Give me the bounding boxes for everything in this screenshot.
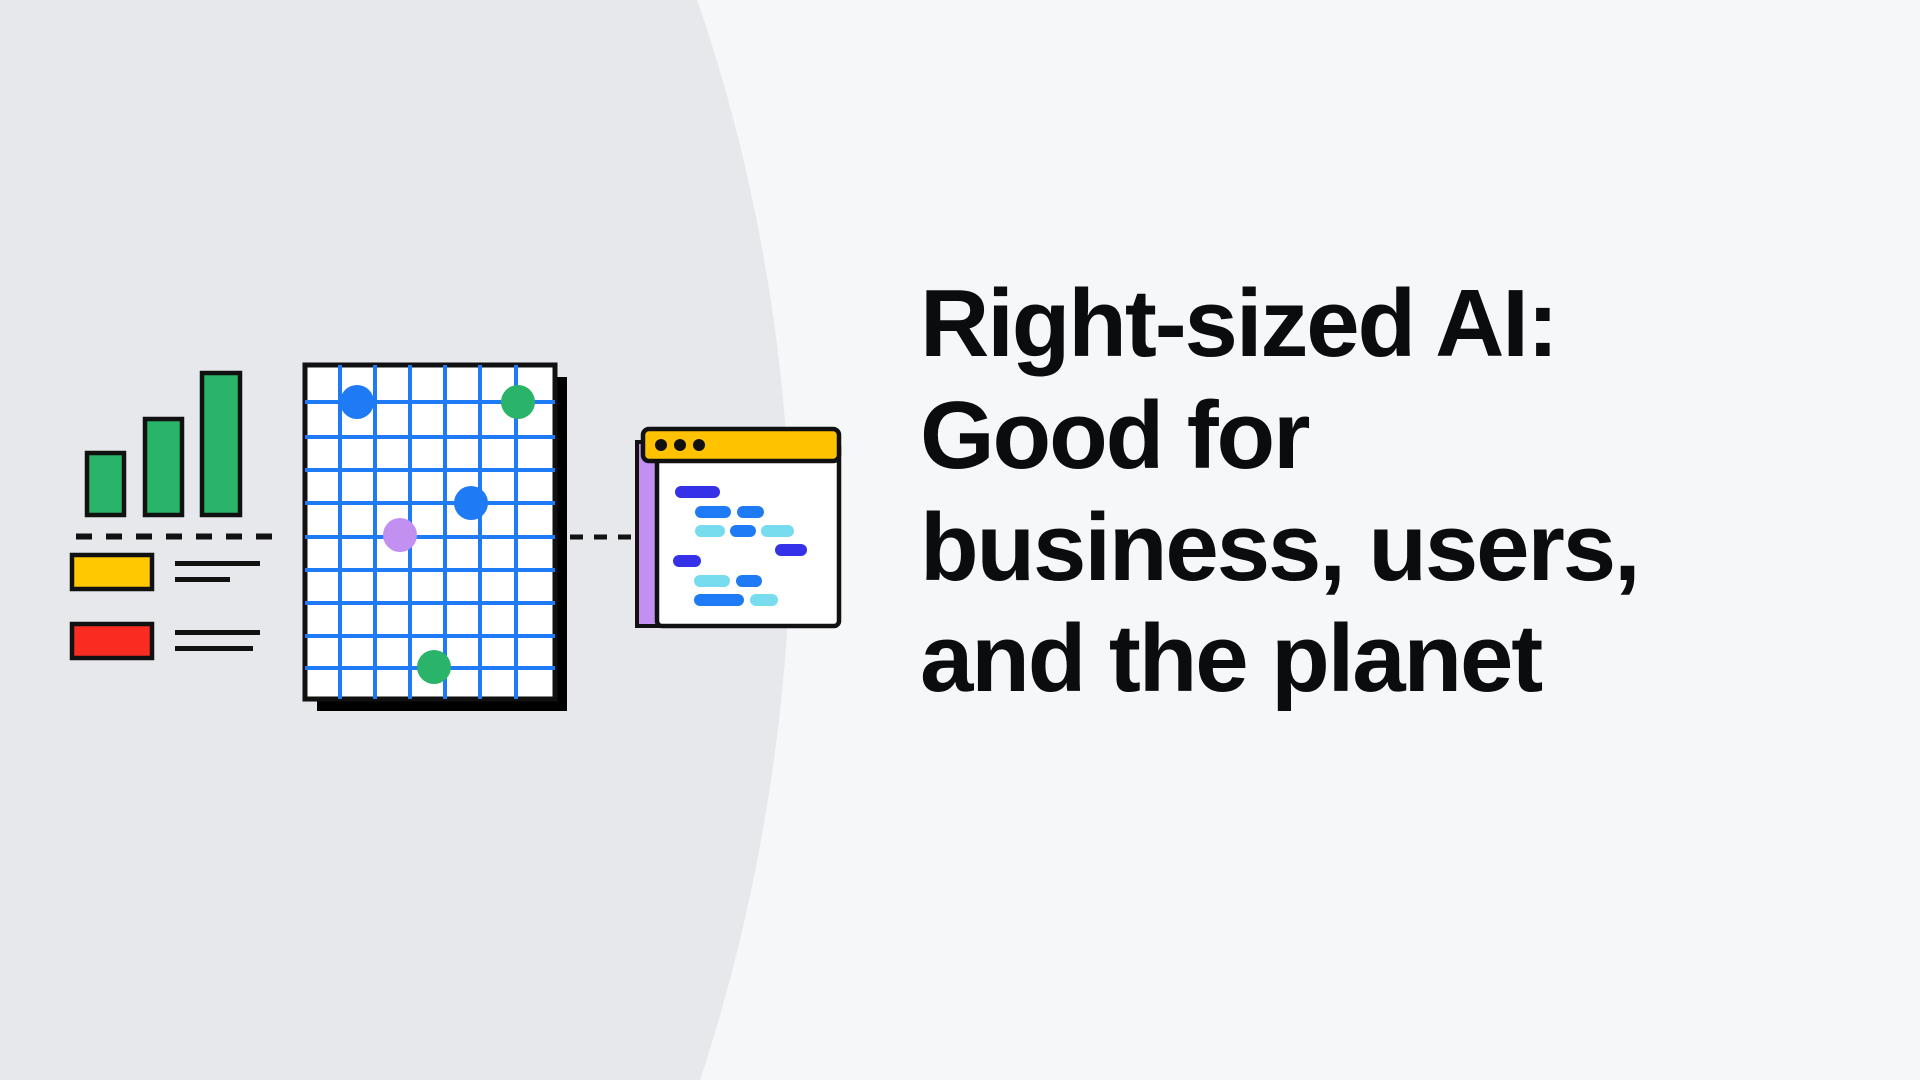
- legend-swatch-error: [72, 624, 152, 658]
- code-bar: [736, 575, 762, 587]
- page-title-line-4: and the planet: [920, 603, 1800, 715]
- code-bar: [750, 594, 778, 606]
- point-blue-2: [454, 486, 488, 520]
- bar-2: [145, 419, 182, 515]
- right-sized-ai-illustration: [0, 0, 900, 1080]
- code-bar: [775, 544, 807, 556]
- browser-titlebar: [643, 429, 839, 461]
- code-bar: [730, 525, 756, 537]
- growth-bar-chart: [76, 373, 272, 537]
- scatter-plot-grid: [305, 365, 567, 711]
- legend-swatch-warning: [72, 555, 152, 589]
- code-bar: [694, 575, 730, 587]
- legend-item-warning: [72, 555, 260, 589]
- point-blue-1: [340, 385, 374, 419]
- code-bar: [695, 525, 725, 537]
- bar-3: [202, 373, 240, 515]
- code-browser-window: [637, 429, 839, 626]
- code-bar: [737, 506, 764, 518]
- legend-line-error-2: [175, 646, 253, 651]
- code-bar: [761, 525, 794, 537]
- legend-line-warning-2: [175, 577, 230, 582]
- point-green-2: [417, 650, 451, 684]
- code-bar: [675, 486, 720, 498]
- bar-1: [87, 453, 124, 515]
- page-title: Right-sized AI: Good for business, users…: [920, 268, 1800, 715]
- code-bar: [694, 594, 744, 606]
- page-title-line-1: Right-sized AI:: [920, 268, 1800, 380]
- code-bar: [695, 506, 731, 518]
- page-title-line-2: Good for: [920, 380, 1800, 492]
- point-purple-1: [383, 518, 417, 552]
- status-legend: [72, 555, 260, 658]
- legend-item-error: [72, 624, 260, 658]
- traffic-light-dot-1[interactable]: [655, 439, 667, 451]
- code-bar: [673, 555, 701, 567]
- traffic-light-dot-2[interactable]: [674, 439, 686, 451]
- page-title-line-3: business, users,: [920, 492, 1800, 604]
- point-green-1: [501, 385, 535, 419]
- traffic-light-dot-3[interactable]: [693, 439, 705, 451]
- legend-line-error-1: [175, 630, 260, 635]
- legend-line-warning-1: [175, 561, 260, 566]
